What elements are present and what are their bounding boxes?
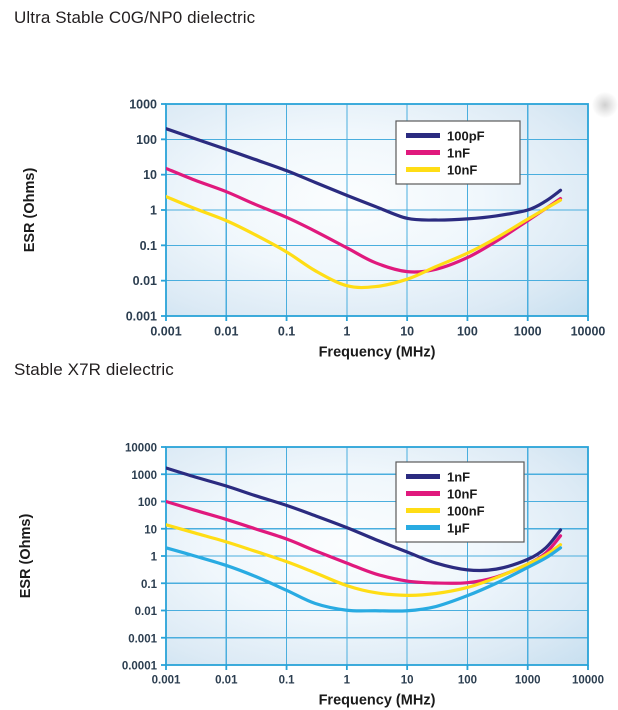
svg-text:100: 100 — [458, 675, 477, 687]
section-title-x7r: Stable X7R dielectric — [0, 360, 618, 380]
legend-label-10nF: 10nF — [447, 163, 477, 178]
svg-text:0.1: 0.1 — [278, 325, 295, 339]
svg-text:1000: 1000 — [515, 675, 541, 687]
svg-text:10000: 10000 — [572, 675, 604, 687]
svg-text:1: 1 — [344, 675, 351, 687]
legend-label-1F: 1µF — [447, 521, 470, 536]
svg-text:0.001: 0.001 — [128, 633, 157, 645]
legend-label-1nF: 1nF — [447, 146, 470, 161]
svg-text:10: 10 — [144, 524, 157, 536]
svg-text:1000: 1000 — [514, 325, 542, 339]
legend: 100pF1nF10nF — [396, 121, 520, 184]
svg-text:1: 1 — [343, 325, 350, 339]
svg-text:0.1: 0.1 — [279, 675, 296, 687]
x-axis-title: Frequency (MHz) — [319, 345, 436, 361]
legend: 1nF10nF100nF1µF — [396, 462, 524, 542]
legend-label-100nF: 100nF — [447, 504, 485, 519]
svg-text:10000: 10000 — [571, 325, 606, 339]
svg-text:1: 1 — [151, 552, 158, 564]
svg-text:1000: 1000 — [129, 98, 157, 112]
section-x7r: Stable X7R dielectric 1000010001001010.1… — [0, 360, 618, 710]
svg-text:100: 100 — [457, 325, 478, 339]
chart-cog: 10001001010.10.010.0010.0010.010.1110100… — [0, 38, 618, 378]
legend-label-10nF: 10nF — [447, 487, 477, 502]
svg-text:0.1: 0.1 — [140, 239, 157, 253]
legend-label-1nF: 1nF — [447, 470, 470, 485]
svg-text:10: 10 — [143, 168, 157, 182]
svg-text:1000: 1000 — [131, 470, 157, 482]
svg-text:10000: 10000 — [125, 443, 157, 455]
section-title-cog: Ultra Stable C0G/NP0 dielectric — [0, 8, 618, 28]
svg-text:1: 1 — [150, 204, 157, 218]
svg-text:0.1: 0.1 — [141, 579, 158, 591]
svg-text:0.001: 0.001 — [150, 325, 181, 339]
svg-text:0.01: 0.01 — [215, 675, 238, 687]
svg-text:0.001: 0.001 — [126, 310, 157, 324]
svg-text:0.01: 0.01 — [214, 325, 238, 339]
svg-text:10: 10 — [400, 325, 414, 339]
svg-text:0.001: 0.001 — [152, 675, 181, 687]
svg-text:0.0001: 0.0001 — [122, 661, 158, 673]
section-cog: Ultra Stable C0G/NP0 dielectric 10001001… — [0, 8, 618, 378]
y-axis-title: ESR (Ohms) — [18, 514, 34, 599]
y-axis-title: ESR (Ohms) — [22, 168, 38, 253]
svg-text:100: 100 — [138, 497, 157, 509]
svg-text:0.01: 0.01 — [135, 606, 158, 618]
chart-x7r: 1000010001001010.10.010.0010.00010.0010.… — [0, 390, 618, 710]
svg-text:100: 100 — [136, 133, 157, 147]
legend-label-100pF: 100pF — [447, 129, 485, 144]
svg-text:0.01: 0.01 — [133, 274, 157, 288]
svg-text:10: 10 — [401, 675, 414, 687]
